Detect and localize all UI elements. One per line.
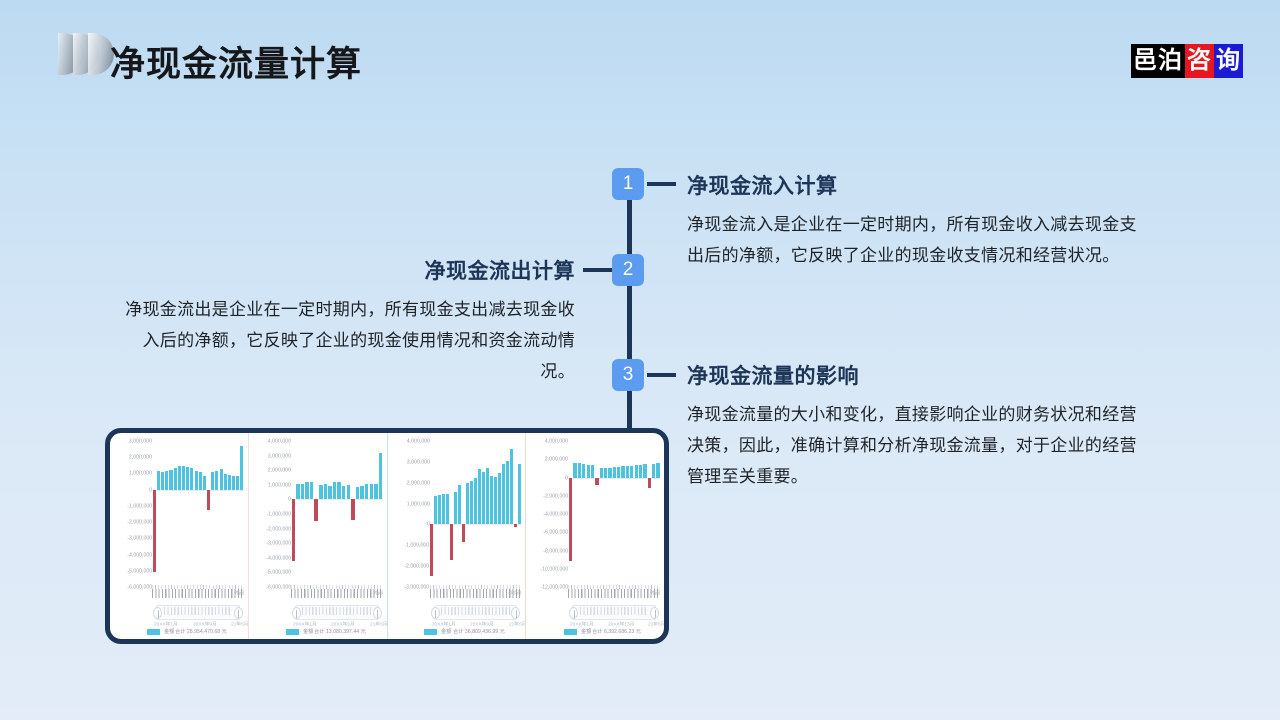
y-tick-label: -1,000,000 (127, 503, 152, 509)
chart-3-legend[interactable]: 金额合计 36,809,436.99 元 (388, 629, 526, 635)
chart-3: 4,000,0003,000,0002,000,0001,000,0000-1,… (387, 433, 526, 639)
bar[interactable] (656, 463, 659, 478)
y-tick-label: 1,000,000 (406, 501, 429, 507)
chart-3-data-zoom-slider[interactable] (434, 605, 518, 620)
slider-preview (441, 607, 510, 615)
bar[interactable] (482, 472, 485, 524)
x-tick-labels (430, 589, 522, 598)
legend-total-label: 合计 6,392,686.23 元 (592, 628, 641, 635)
y-tick-label: 3,000,000 (129, 438, 152, 444)
chart-3-date-labels: 20XX年1月20XX年9月21年5月 (432, 621, 522, 626)
bar[interactable] (199, 472, 202, 490)
bar[interactable] (434, 496, 437, 525)
y-tick-label: -2,000,000 (543, 493, 568, 499)
bar[interactable] (462, 524, 465, 542)
chart-3-x-axis: 时间 (430, 585, 522, 601)
bar[interactable] (236, 476, 239, 490)
bar[interactable] (195, 471, 198, 490)
bar[interactable] (438, 495, 441, 525)
legend-swatch (564, 629, 577, 635)
content-block-3-title: 净现金流量的影响 (687, 360, 1152, 390)
chart-1-date-labels: 20XX年1月20XX年9月21年5月 (154, 621, 244, 626)
y-tick-label: -2,000,000 (266, 526, 291, 532)
y-tick-label: 4,000,000 (406, 438, 429, 444)
logo-segment-2: 咨 (1185, 44, 1214, 78)
bar[interactable] (621, 466, 624, 477)
bar[interactable] (190, 468, 193, 490)
legend-series-label: 金额 (164, 628, 174, 635)
legend-swatch (424, 629, 437, 635)
x-axis-title: 时间 (234, 589, 243, 596)
date-label: 21年5月 (509, 620, 526, 627)
bar[interactable] (220, 469, 223, 489)
timeline-node-3[interactable]: 3 (612, 359, 644, 391)
handle-grip-icon (435, 610, 436, 618)
bar[interactable] (458, 485, 461, 525)
bar[interactable] (165, 471, 168, 490)
bar[interactable] (296, 484, 299, 500)
content-block-2-body: 净现金流出是企业在一定时期内，所有现金支出减去现金收入后的净额，它反映了企业的现… (110, 294, 575, 387)
date-label: 21年5月 (370, 620, 387, 627)
bar[interactable] (454, 492, 457, 524)
slider-handle-left[interactable] (431, 607, 440, 619)
date-label: 20XX年13月 (608, 620, 634, 627)
handle-grip-icon (574, 610, 575, 618)
chart-panel: 3,000,0002,000,0001,000,0000-1,000,000-2… (105, 428, 669, 644)
slider-handle-right[interactable] (511, 607, 520, 619)
content-block-1: 净现金流入计算 净现金流入是企业在一定时期内，所有现金收入减去现金支出后的净额，… (687, 170, 1152, 271)
handle-grip-icon (655, 610, 656, 618)
bar[interactable] (305, 482, 308, 499)
bar[interactable] (240, 446, 243, 490)
logo-segment-1: 邑泊 (1131, 44, 1185, 78)
handle-grip-icon (296, 610, 297, 618)
y-tick-label: -12,000,000 (540, 584, 568, 590)
bar[interactable] (573, 463, 576, 478)
bar[interactable] (153, 490, 156, 573)
bar[interactable] (324, 484, 327, 499)
slider-preview (580, 607, 649, 615)
y-tick-label: -1,000,000 (405, 542, 430, 548)
chart-2-y-axis: 4,000,0003,000,0002,000,0001,000,0000-1,… (251, 441, 291, 587)
chart-4-plot (568, 441, 660, 587)
y-tick-label: -6,000,000 (127, 584, 152, 590)
bar[interactable] (639, 465, 642, 478)
bar[interactable] (582, 464, 585, 478)
chart-2-date-labels: 20XX年1月20XX年9月21年5月 (293, 621, 383, 626)
bar[interactable] (630, 466, 633, 478)
bar[interactable] (169, 470, 172, 490)
bar[interactable] (207, 490, 210, 511)
bar[interactable] (310, 482, 313, 500)
bar[interactable] (224, 474, 227, 490)
date-label: 20XX年1月 (570, 620, 594, 627)
timeline-spine (627, 190, 632, 450)
x-axis-title: 时间 (651, 589, 660, 596)
slider-handle-right[interactable] (373, 607, 382, 619)
slider-handle-left[interactable] (292, 607, 301, 619)
bar[interactable] (157, 471, 160, 490)
content-block-2-title: 净现金流出计算 (110, 255, 575, 285)
bar[interactable] (502, 464, 505, 524)
bar[interactable] (578, 463, 581, 477)
content-block-1-body: 净现金流入是企业在一定时期内，所有现金收入减去现金支出后的净额，它反映了企业的现… (687, 209, 1152, 271)
timeline-node-2[interactable]: 2 (612, 254, 644, 286)
chart-2-plot (291, 441, 383, 587)
bar[interactable] (211, 472, 214, 490)
bar[interactable] (360, 486, 363, 499)
bar-series (152, 441, 244, 587)
bar[interactable] (370, 484, 373, 500)
chart-3-y-axis: 4,000,0003,000,0002,000,0001,000,0000-1,… (390, 441, 430, 587)
bar[interactable] (314, 499, 317, 521)
y-tick-label: -2,000,000 (405, 563, 430, 569)
y-tick-label: -6,000,000 (266, 584, 291, 590)
bar[interactable] (478, 469, 481, 524)
x-tick-labels (291, 589, 383, 598)
y-tick-label: 1,000,000 (129, 471, 152, 477)
logo-segment-3: 询 (1214, 44, 1243, 78)
y-tick-label: -2,000,000 (127, 519, 152, 525)
date-label: 20XX年9月 (193, 620, 217, 627)
bar[interactable] (337, 482, 340, 499)
date-label: 21年5月 (648, 620, 665, 627)
legend-total-label: 合计 36,809,436.99 元 (453, 628, 505, 635)
bar[interactable] (351, 499, 354, 519)
bar[interactable] (430, 524, 433, 575)
legend-swatch (286, 629, 299, 635)
date-label: 20XX年9月 (331, 620, 355, 627)
decorative-semicircles (58, 33, 118, 75)
legend-swatch (147, 629, 160, 635)
bar[interactable] (648, 478, 651, 489)
content-block-3-body: 净现金流量的大小和变化，直接影响企业的财务状况和经营决策，因此，准确计算和分析净… (687, 399, 1152, 492)
content-block-1-title: 净现金流入计算 (687, 170, 1152, 200)
bar[interactable] (635, 465, 638, 477)
content-block-2: 净现金流出计算 净现金流出是企业在一定时期内，所有现金支出减去现金收入后的净额，… (110, 255, 575, 387)
legend-series-label: 金额 (441, 628, 451, 635)
y-tick-label: -5,000,000 (266, 569, 291, 575)
handle-grip-icon (238, 610, 239, 618)
bar[interactable] (379, 453, 382, 499)
chart-1-data-zoom-slider[interactable] (156, 605, 240, 620)
bar-series (568, 441, 660, 587)
bar[interactable] (450, 524, 453, 560)
bar[interactable] (514, 524, 517, 527)
chart-4: 4,000,0002,000,0000-2,000,000-4,000,000-… (525, 433, 664, 639)
chart-4-legend[interactable]: 金额合计 6,392,686.23 元 (526, 629, 664, 635)
bar[interactable] (328, 486, 331, 500)
chart-4-date-labels: 20XX年1月20XX年13月21年5月 (570, 621, 660, 626)
bar[interactable] (178, 466, 181, 489)
connector-line-3 (647, 373, 676, 377)
slider-preview (302, 607, 371, 615)
date-label: 20XX年1月 (432, 620, 456, 627)
x-tick-labels (152, 589, 244, 598)
bar[interactable] (215, 471, 218, 490)
legend-total-label: 合计 28,954,470.68 元 (175, 628, 227, 635)
bar[interactable] (446, 494, 449, 524)
slider-handle-left[interactable] (569, 607, 578, 619)
connector-line-1 (647, 182, 676, 186)
bar[interactable] (186, 467, 189, 490)
chart-1-x-axis: 时间 (152, 585, 244, 601)
chart-1-plot (152, 441, 244, 587)
bar[interactable] (486, 468, 489, 525)
chart-1-y-axis: 3,000,0002,000,0001,000,0000-1,000,000-2… (112, 441, 152, 587)
handle-grip-icon (516, 610, 517, 618)
y-tick-label: -5,000,000 (127, 568, 152, 574)
chart-2-legend[interactable]: 金额合计 13,080,397.44 元 (249, 629, 387, 635)
bar[interactable] (490, 476, 493, 524)
y-tick-label: -4,000,000 (543, 511, 568, 517)
y-tick-label: 2,000,000 (268, 467, 291, 473)
connector-line-2 (583, 268, 612, 272)
chart-1-legend[interactable]: 金额合计 28,954,470.68 元 (110, 629, 248, 635)
bar[interactable] (613, 467, 616, 477)
y-tick-label: 4,000,000 (545, 438, 568, 444)
brand-logo: 邑泊 咨 询 (1131, 44, 1243, 78)
bar[interactable] (203, 476, 206, 490)
chart-2: 4,000,0003,000,0002,000,0001,000,0000-1,… (248, 433, 387, 639)
chart-1: 3,000,0002,000,0001,000,0000-1,000,000-2… (110, 433, 248, 639)
bar[interactable] (595, 478, 598, 485)
date-label: 20XX年1月 (293, 620, 317, 627)
y-tick-label: -4,000,000 (127, 552, 152, 558)
bar[interactable] (494, 477, 497, 525)
bar[interactable] (228, 475, 231, 490)
slider-handle-left[interactable] (153, 607, 162, 619)
x-tick-labels (568, 589, 660, 598)
bar[interactable] (626, 466, 629, 477)
date-label: 21年5月 (231, 620, 248, 627)
y-tick-label: -3,000,000 (266, 540, 291, 546)
y-tick-label: 2,000,000 (545, 456, 568, 462)
bar[interactable] (174, 468, 177, 489)
bar[interactable] (518, 464, 521, 524)
y-tick-label: -10,000,000 (540, 566, 568, 572)
bar[interactable] (604, 468, 607, 478)
date-label: 20XX年9月 (470, 620, 494, 627)
bar[interactable] (347, 485, 350, 499)
bar-series (291, 441, 383, 587)
bar[interactable] (474, 478, 477, 525)
bar[interactable] (292, 499, 295, 561)
bar[interactable] (643, 464, 646, 478)
y-tick-label: 3,000,000 (268, 453, 291, 459)
handle-grip-icon (377, 610, 378, 618)
bar[interactable] (301, 484, 304, 499)
x-axis-title: 时间 (512, 589, 521, 596)
chart-4-x-axis: 时间 (568, 585, 660, 601)
bar[interactable] (319, 485, 322, 500)
y-tick-label: -6,000,000 (543, 529, 568, 535)
legend-total-label: 合计 13,080,397.44 元 (314, 628, 366, 635)
bar[interactable] (232, 476, 235, 490)
bar[interactable] (569, 478, 572, 561)
legend-series-label: 金额 (303, 628, 313, 635)
y-tick-label: -4,000,000 (266, 555, 291, 561)
legend-series-label: 金额 (581, 628, 591, 635)
x-axis-title: 时间 (373, 589, 382, 596)
bar[interactable] (356, 487, 359, 500)
slider-preview (164, 607, 233, 615)
handle-grip-icon (158, 610, 159, 618)
y-tick-label: -3,000,000 (127, 535, 152, 541)
chart-4-data-zoom-slider[interactable] (572, 605, 656, 620)
bar[interactable] (442, 494, 445, 525)
bar[interactable] (470, 481, 473, 525)
y-tick-label: 4,000,000 (268, 438, 291, 444)
bar[interactable] (617, 467, 620, 478)
bar[interactable] (600, 468, 603, 477)
date-label: 20XX年1月 (154, 620, 178, 627)
timeline-node-1[interactable]: 1 (612, 168, 644, 200)
bar[interactable] (374, 484, 377, 499)
y-tick-label: -1,000,000 (266, 511, 291, 517)
bar[interactable] (652, 464, 655, 478)
chart-4-y-axis: 4,000,0002,000,0000-2,000,000-4,000,000-… (528, 441, 568, 587)
bar[interactable] (506, 461, 509, 525)
bar[interactable] (466, 483, 469, 525)
bar[interactable] (333, 482, 336, 500)
bar[interactable] (591, 465, 594, 477)
y-tick-label: 2,000,000 (406, 480, 429, 486)
bar[interactable] (498, 473, 501, 524)
bar[interactable] (608, 468, 611, 478)
y-tick-label: 3,000,000 (406, 459, 429, 465)
chart-3-plot (430, 441, 522, 587)
page-title: 净现金流量计算 (110, 36, 362, 87)
chart-2-data-zoom-slider[interactable] (295, 605, 379, 620)
slider-handle-right[interactable] (650, 607, 659, 619)
slide-root: 净现金流量计算 邑泊 咨 询 1 2 3 净现金流入计算 净现金流入是企业在一定… (0, 0, 1280, 720)
y-tick-label: 1,000,000 (268, 482, 291, 488)
bar[interactable] (365, 484, 368, 499)
bar[interactable] (510, 449, 513, 524)
y-tick-label: -8,000,000 (543, 548, 568, 554)
bar[interactable] (587, 465, 590, 478)
y-tick-label: -3,000,000 (405, 584, 430, 590)
bar[interactable] (182, 466, 185, 490)
bar-series (430, 441, 522, 587)
slider-handle-right[interactable] (234, 607, 243, 619)
y-tick-label: 2,000,000 (129, 454, 152, 460)
bar[interactable] (342, 486, 345, 500)
bar[interactable] (161, 472, 164, 490)
chart-2-x-axis: 时间 (291, 585, 383, 601)
content-block-3: 净现金流量的影响 净现金流量的大小和变化，直接影响企业的财务状况和经营决策，因此… (687, 360, 1152, 492)
